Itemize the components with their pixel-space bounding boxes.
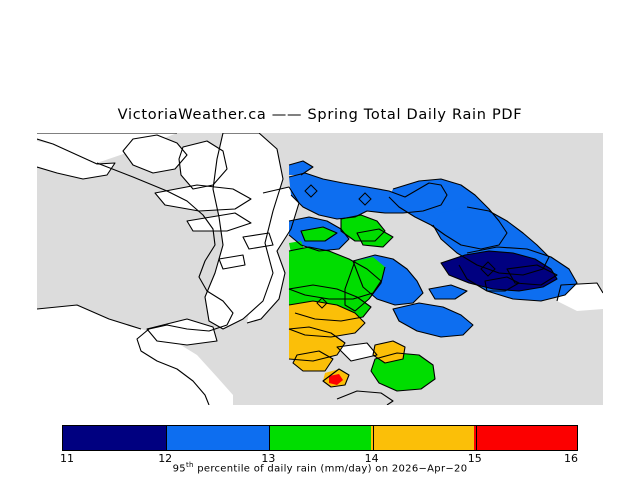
map-panel[interactable] xyxy=(37,133,603,405)
colorbar-band-12-13[interactable] xyxy=(166,426,269,450)
colorbar-band-14-15[interactable] xyxy=(371,426,474,450)
colorbar-band-15-16[interactable] xyxy=(474,426,577,450)
colorbar-bands[interactable] xyxy=(62,425,578,451)
colorbar[interactable] xyxy=(62,425,578,451)
colorbar-separator xyxy=(476,426,477,450)
colorbar-separator xyxy=(269,426,270,450)
page-title: VictoriaWeather.ca —— Spring Total Daily… xyxy=(0,107,640,123)
weather-map-figure: VictoriaWeather.ca —— Spring Total Daily… xyxy=(0,0,640,480)
colorbar-separator xyxy=(166,426,167,450)
colorbar-band-13-14[interactable] xyxy=(269,426,372,450)
colorbar-band-11-12[interactable] xyxy=(63,426,166,450)
colorbar-caption: 95th percentile of daily rain (mm/day) o… xyxy=(0,461,640,474)
map-canvas xyxy=(37,133,603,405)
colorbar-separator xyxy=(373,426,374,450)
